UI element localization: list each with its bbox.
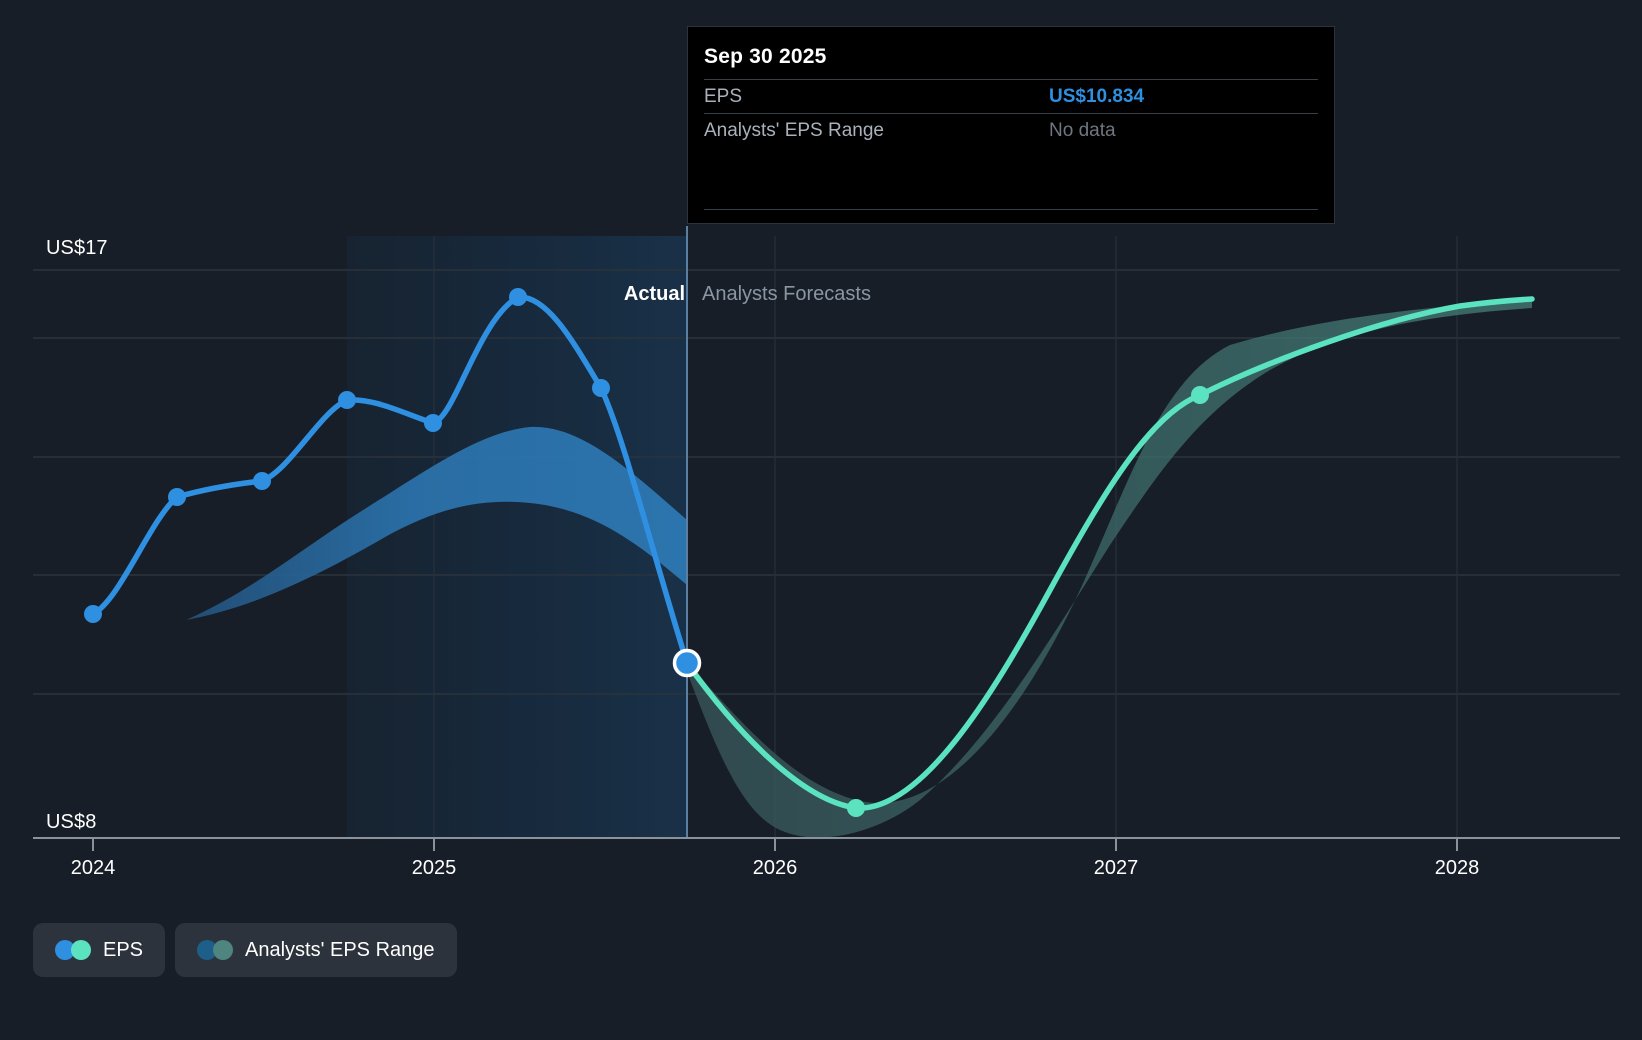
- x-axis-ticks: [93, 838, 1457, 851]
- legend-item-eps[interactable]: EPS: [33, 923, 165, 977]
- data-point[interactable]: [847, 799, 865, 817]
- data-point[interactable]: [253, 472, 271, 490]
- eps-forecast-line: [687, 299, 1532, 808]
- data-point[interactable]: [84, 605, 102, 623]
- x-tick-label-2025: 2025: [412, 857, 457, 880]
- y-axis-min-label: US$8: [46, 811, 96, 834]
- gridlines: [33, 270, 1620, 694]
- data-point[interactable]: [168, 488, 186, 506]
- x-tick-label-2028: 2028: [1435, 857, 1480, 880]
- x-tick-label-2026: 2026: [753, 857, 798, 880]
- tooltip-divider: [704, 209, 1318, 211]
- analysts-range-band-forecast: [687, 300, 1532, 838]
- tooltip-row-label: Analysts' EPS Range: [704, 120, 1049, 142]
- legend: EPS Analysts' EPS Range: [33, 923, 457, 977]
- tooltip-row-eps: EPS US$10.834: [704, 79, 1318, 113]
- tooltip-row-value: US$10.834: [1049, 86, 1144, 108]
- tooltip-date: Sep 30 2025: [704, 45, 1318, 69]
- data-point[interactable]: [424, 414, 442, 432]
- legend-item-label: Analysts' EPS Range: [245, 939, 434, 962]
- eps-forecast-chart: US$17 US$8 2024 2025 2026 2027 2028 Actu…: [0, 0, 1642, 1040]
- tooltip-row-analysts-range: Analysts' EPS Range No data: [704, 113, 1318, 147]
- data-point[interactable]: [338, 391, 356, 409]
- data-point[interactable]: [1191, 386, 1209, 404]
- data-point[interactable]: [592, 379, 610, 397]
- actual-period-label: Actual: [624, 283, 685, 306]
- tooltip-row-value: No data: [1049, 120, 1116, 142]
- y-axis-max-label: US$17: [46, 237, 108, 260]
- forecast-period-label: Analysts Forecasts: [702, 283, 871, 306]
- analysts-range-swatch-icon: [197, 940, 233, 960]
- hover-tooltip: Sep 30 2025 EPS US$10.834 Analysts' EPS …: [687, 26, 1335, 224]
- x-tick-label-2024: 2024: [71, 857, 116, 880]
- selected-data-point[interactable]: [675, 651, 700, 676]
- legend-item-label: EPS: [103, 939, 143, 962]
- legend-item-analysts-eps-range[interactable]: Analysts' EPS Range: [175, 923, 456, 977]
- x-tick-label-2027: 2027: [1094, 857, 1139, 880]
- data-point[interactable]: [509, 288, 527, 306]
- eps-swatch-icon: [55, 940, 91, 960]
- tooltip-row-label: EPS: [704, 86, 1049, 108]
